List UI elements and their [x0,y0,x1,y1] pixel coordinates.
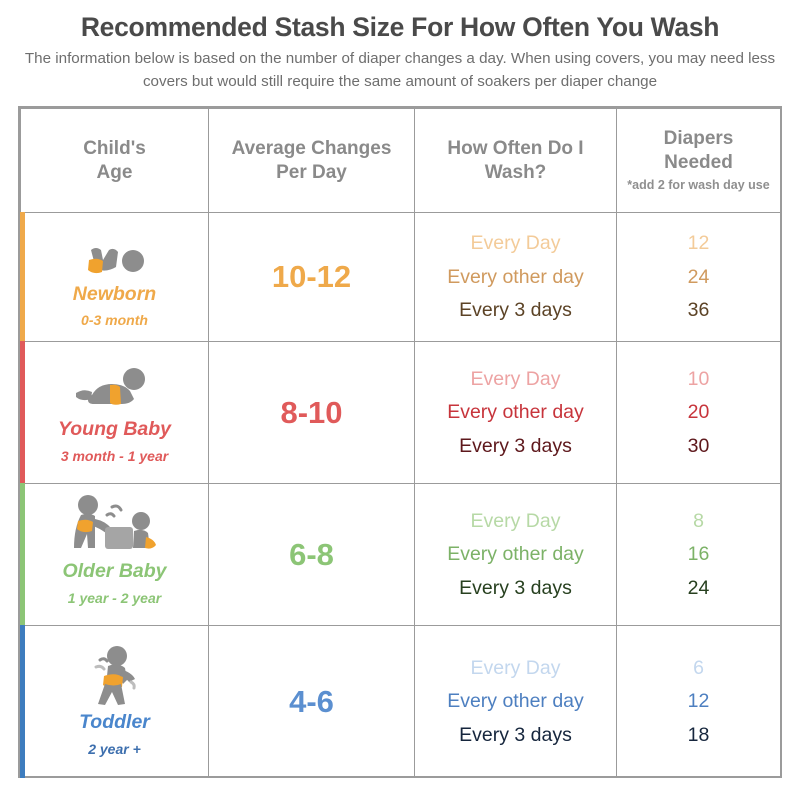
table-row: Older Baby 1 year - 2 year 6-8 Every Day… [21,484,781,626]
age-name-young-baby: Young Baby [58,419,171,440]
wash-option-every-day: Every Day [415,657,616,679]
row-color-stripe-older-baby [20,483,25,626]
table-row: Young Baby 3 month - 1 year 8-10 Every D… [21,342,781,484]
age-range-newborn: 0-3 month [81,312,148,328]
column-header-average-changes: Average Changes Per Day [209,109,415,213]
wash-option-every-3-days: Every 3 days [415,724,616,746]
wash-frequency-young-baby: Every Day Every other day Every 3 days [415,342,617,484]
wash-frequency-older-baby: Every Day Every other day Every 3 days [415,484,617,626]
column-header-needed-note: *add 2 for wash day use [617,178,780,194]
column-header-needed-line2: Needed [664,152,733,173]
average-changes-young-baby: 8-10 [209,342,415,484]
column-header-wash-line2: Wash? [485,162,547,183]
wash-option-every-day: Every Day [415,510,616,532]
age-range-toddler: 2 year + [88,741,141,757]
diapers-needed-young-baby: 10 20 30 [617,342,781,484]
diapers-needed-value: 24 [617,266,780,288]
average-changes-older-baby: 6-8 [209,484,415,626]
column-header-wash-line1: How Often Do I [447,138,583,159]
age-cell-newborn: Newborn 0-3 month [21,213,209,342]
row-color-stripe-young-baby [20,341,25,484]
stash-size-table: Child's Age Average Changes Per Day How … [20,108,781,778]
age-name-newborn: Newborn [73,284,156,305]
diapers-needed-value: 10 [617,368,780,390]
column-header-how-often-wash: How Often Do I Wash? [415,109,617,213]
page-subtitle: The information below is based on the nu… [15,48,785,92]
wash-option-every-other-day: Every other day [415,266,616,288]
column-header-needed-line1: Diapers [664,128,734,149]
diapers-needed-value: 6 [617,657,780,679]
wash-option-every-3-days: Every 3 days [415,299,616,321]
page-header: Recommended Stash Size For How Often You… [0,0,800,93]
column-header-age: Child's Age [21,109,209,213]
age-name-older-baby: Older Baby [62,561,166,582]
row-color-stripe-toddler [20,625,25,778]
wash-option-every-other-day: Every other day [415,690,616,712]
column-header-diapers-needed: Diapers Needed *add 2 for wash day use [617,109,781,213]
diapers-needed-value: 18 [617,724,780,746]
wash-option-every-other-day: Every other day [415,543,616,565]
diapers-needed-value: 20 [617,401,780,423]
diapers-needed-value: 8 [617,510,780,532]
wash-option-every-day: Every Day [415,232,616,254]
wash-option-every-day: Every Day [415,368,616,390]
diapers-needed-value: 30 [617,435,780,457]
column-header-age-line1: Child's [83,138,146,159]
table-row: Toddler 2 year + 4-6 Every Day Every oth… [21,626,781,778]
toddler-icon [83,646,147,706]
older-baby-icon [65,503,165,555]
diapers-needed-newborn: 12 24 36 [617,213,781,342]
wash-option-every-3-days: Every 3 days [415,577,616,599]
row-color-stripe-newborn [20,212,25,342]
diapers-needed-value: 36 [617,299,780,321]
diapers-needed-older-baby: 8 16 24 [617,484,781,626]
wash-option-every-3-days: Every 3 days [415,435,616,457]
age-name-toddler: Toddler [79,712,150,733]
diapers-needed-value: 24 [617,577,780,599]
table-row: Newborn 0-3 month 10-12 Every Day Every … [21,213,781,342]
table-header-row: Child's Age Average Changes Per Day How … [21,109,781,213]
age-range-young-baby: 3 month - 1 year [61,448,168,464]
age-cell-young-baby: Young Baby 3 month - 1 year [21,342,209,484]
age-cell-older-baby: Older Baby 1 year - 2 year [21,484,209,626]
average-changes-toddler: 4-6 [209,626,415,778]
age-range-older-baby: 1 year - 2 year [68,590,161,606]
newborn-icon [75,226,155,278]
age-cell-toddler: Toddler 2 year + [21,626,209,778]
diapers-needed-toddler: 6 12 18 [617,626,781,778]
stash-size-table-container: Child's Age Average Changes Per Day How … [18,106,782,778]
column-header-age-line2: Age [97,162,133,183]
wash-frequency-newborn: Every Day Every other day Every 3 days [415,213,617,342]
column-header-average-line2: Per Day [276,162,347,183]
wash-frequency-toddler: Every Day Every other day Every 3 days [415,626,617,778]
diapers-needed-value: 16 [617,543,780,565]
diapers-needed-value: 12 [617,690,780,712]
column-header-average-line1: Average Changes [232,138,392,159]
page-title: Recommended Stash Size For How Often You… [12,12,788,42]
diapers-needed-value: 12 [617,232,780,254]
wash-option-every-other-day: Every other day [415,401,616,423]
average-changes-newborn: 10-12 [209,213,415,342]
young-baby-icon [72,361,158,413]
